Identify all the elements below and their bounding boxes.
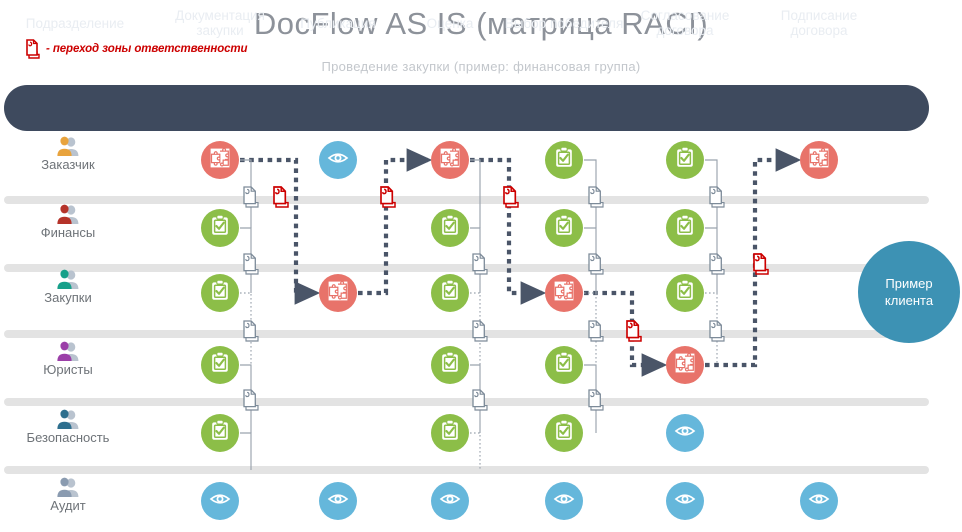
activity-node[interactable] — [201, 209, 239, 247]
document-icon — [242, 320, 261, 342]
document-icon — [471, 320, 490, 342]
clipboard-check-icon — [553, 419, 575, 447]
clipboard-check-icon — [674, 279, 696, 307]
activity-node[interactable] — [431, 209, 469, 247]
activity-node[interactable] — [201, 274, 239, 312]
activity-node[interactable] — [800, 482, 838, 520]
activity-node[interactable] — [666, 414, 704, 452]
row-label-text: Закупки — [0, 290, 136, 305]
row-label-text: Финансы — [0, 225, 136, 240]
clipboard-check-icon — [209, 214, 231, 242]
activity-node[interactable] — [319, 141, 357, 179]
row-label-text: Юристы — [0, 362, 136, 377]
row-label-text: Аудит — [0, 498, 136, 513]
activity-node[interactable] — [545, 209, 583, 247]
diagram-canvas: DocFlow AS IS (матрица RACI) Проведение … — [0, 0, 962, 532]
eye-icon — [439, 488, 461, 515]
clipboard-check-icon — [674, 214, 696, 242]
handoff-document-icon — [502, 186, 521, 208]
client-example-bubble[interactable]: Пример клиента — [858, 241, 960, 343]
puzzle-icon — [327, 280, 349, 307]
person-icon — [0, 341, 136, 361]
activity-node[interactable] — [201, 414, 239, 452]
clipboard-check-icon — [674, 146, 696, 174]
clipboard-check-icon — [209, 351, 231, 379]
eye-icon — [674, 488, 696, 515]
person-icon — [0, 204, 136, 224]
row-label-1[interactable]: Финансы — [0, 204, 136, 240]
activity-node[interactable] — [545, 346, 583, 384]
clipboard-check-icon — [553, 214, 575, 242]
row-label-5[interactable]: Аудит — [0, 477, 136, 513]
document-icon — [587, 186, 606, 208]
puzzle-icon — [808, 147, 830, 174]
eye-icon — [327, 488, 349, 515]
clipboard-check-icon — [439, 419, 461, 447]
row-label-0[interactable]: Заказчик — [0, 136, 136, 172]
handoff-document-icon — [379, 186, 398, 208]
document-icon — [242, 186, 261, 208]
row-label-2[interactable]: Закупки — [0, 269, 136, 305]
activity-node[interactable] — [201, 346, 239, 384]
eye-icon — [674, 420, 696, 447]
client-bubble-line2: клиента — [885, 292, 933, 309]
clipboard-check-icon — [209, 419, 231, 447]
clipboard-check-icon — [439, 279, 461, 307]
clipboard-check-icon — [553, 351, 575, 379]
handoff-document-icon — [625, 320, 644, 342]
flow-connector — [470, 160, 480, 228]
activity-node[interactable] — [201, 482, 239, 520]
puzzle-icon — [439, 147, 461, 174]
handoff-document-icon — [752, 253, 771, 275]
activity-node[interactable] — [431, 346, 469, 384]
document-icon — [242, 389, 261, 411]
activity-node[interactable] — [666, 346, 704, 384]
document-icon — [708, 320, 727, 342]
document-icon — [471, 389, 490, 411]
document-icon — [587, 320, 606, 342]
document-icon — [587, 253, 606, 275]
clipboard-check-icon — [209, 279, 231, 307]
clipboard-check-icon — [439, 351, 461, 379]
row-label-3[interactable]: Юристы — [0, 341, 136, 377]
eye-icon — [808, 488, 830, 515]
eye-icon — [209, 488, 231, 515]
flow-connector — [470, 433, 480, 470]
activity-node[interactable] — [666, 274, 704, 312]
clipboard-check-icon — [439, 214, 461, 242]
activity-node[interactable] — [545, 141, 583, 179]
activity-node[interactable] — [431, 482, 469, 520]
puzzle-icon — [674, 352, 696, 379]
person-icon — [0, 136, 136, 156]
activity-node[interactable] — [666, 141, 704, 179]
row-label-4[interactable]: Безопасность — [0, 409, 136, 445]
row-label-text: Безопасность — [0, 430, 136, 445]
activity-node[interactable] — [319, 482, 357, 520]
puzzle-icon — [553, 280, 575, 307]
activity-node[interactable] — [201, 141, 239, 179]
eye-icon — [327, 147, 349, 174]
clipboard-check-icon — [553, 146, 575, 174]
activity-node[interactable] — [545, 482, 583, 520]
activity-node[interactable] — [800, 141, 838, 179]
activity-node[interactable] — [431, 141, 469, 179]
activity-node[interactable] — [666, 482, 704, 520]
activity-node[interactable] — [431, 274, 469, 312]
document-icon — [708, 253, 727, 275]
person-icon — [0, 409, 136, 429]
flow-connector — [358, 160, 428, 293]
document-icon — [708, 186, 727, 208]
puzzle-icon — [209, 147, 231, 174]
row-label-text: Заказчик — [0, 157, 136, 172]
activity-node[interactable] — [431, 414, 469, 452]
document-icon — [587, 389, 606, 411]
client-bubble-line1: Пример — [885, 275, 932, 292]
document-icon — [242, 253, 261, 275]
person-icon — [0, 269, 136, 289]
document-icon — [471, 253, 490, 275]
person-icon — [0, 477, 136, 497]
activity-node[interactable] — [319, 274, 357, 312]
flow-connector — [240, 433, 251, 470]
activity-node[interactable] — [666, 209, 704, 247]
handoff-document-icon — [272, 186, 291, 208]
eye-icon — [553, 488, 575, 515]
activity-node[interactable] — [545, 414, 583, 452]
activity-node[interactable] — [545, 274, 583, 312]
